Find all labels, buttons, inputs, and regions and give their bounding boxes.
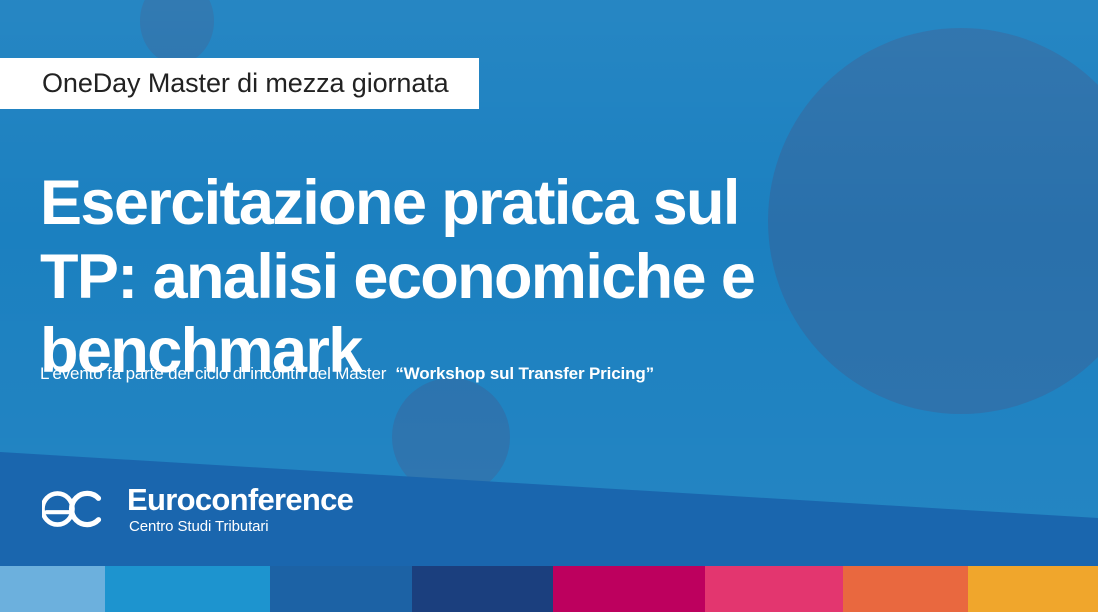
color-swatch-amber [968,566,1098,612]
decorative-circle-small-top [140,0,214,64]
color-swatch-medium-blue [270,566,412,612]
brand-logo-wordmark: Euroconference Centro Studi Tributari [127,484,353,534]
color-swatch-bright-blue [105,566,270,612]
page-title-line-2: TP: analisi economiche e [40,240,870,314]
color-swatch-light-blue [0,566,105,612]
subtitle: L'evento fa parte del ciclo di incontri … [40,364,654,384]
color-swatch-navy-blue [412,566,553,612]
kicker-label: OneDay Master di mezza giornata [42,70,449,97]
color-swatch-orange [843,566,968,612]
promo-banner: OneDay Master di mezza giornata Esercita… [0,0,1098,612]
ec-monogram-icon [42,485,114,533]
color-swatch-pink [705,566,843,612]
brand-color-bar [0,566,1098,612]
kicker-badge: OneDay Master di mezza giornata [0,58,479,109]
subtitle-prefix: L'evento fa parte del ciclo di incontri … [40,364,386,383]
brand-logo: Euroconference Centro Studi Tributari [42,484,353,534]
page-title: Esercitazione pratica sul TP: analisi ec… [40,166,870,388]
color-swatch-magenta [553,566,705,612]
brand-tagline: Centro Studi Tributari [129,519,353,535]
brand-name: Euroconference [127,484,353,516]
subtitle-emphasis: “Workshop sul Transfer Pricing” [395,364,654,383]
page-title-line-1: Esercitazione pratica sul [40,166,870,240]
